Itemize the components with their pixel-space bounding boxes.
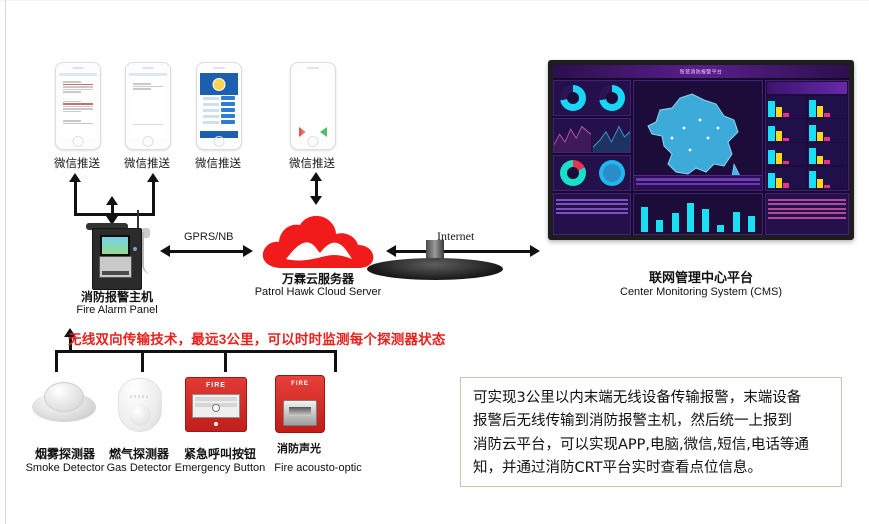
description-line-1: 可实现3公里以内末端无线设备传输报警，末端设备 bbox=[473, 387, 829, 410]
alert-ticker bbox=[634, 175, 762, 190]
emergency-button-face-text: FIRE bbox=[186, 382, 246, 389]
bar-5月 bbox=[702, 209, 709, 232]
kpi-gauges bbox=[553, 155, 631, 191]
line-drop-gas bbox=[141, 350, 144, 372]
fire-alarm-panel[interactable] bbox=[92, 228, 142, 290]
description-line-3: 消防云平台，可以实现APP,电脑,微信,短信,电话等通 bbox=[473, 434, 829, 457]
phone-4-screen: 09:24 bbox=[294, 73, 332, 138]
description-box: 可实现3公里以内末端无线设备传输报警，末端设备 报警后无线传输到消防报警主机，然… bbox=[460, 377, 842, 487]
monthly-bar-chart bbox=[633, 193, 763, 235]
emergency-button-label-en: Emergency Button bbox=[166, 462, 274, 476]
dashboard-left-column bbox=[553, 80, 631, 191]
mini-bar-group bbox=[808, 119, 847, 141]
right-panel-header bbox=[767, 82, 847, 94]
description-line-2: 报警后无线传输到消防报警主机，然后统一上报到 bbox=[473, 410, 829, 433]
china-map-panel bbox=[633, 80, 763, 191]
kpi-donuts bbox=[553, 80, 631, 116]
phone-home-button[interactable] bbox=[308, 136, 319, 147]
line-drop-smoke bbox=[55, 350, 58, 372]
bar-8月 bbox=[748, 216, 755, 232]
panel-keypad-door bbox=[99, 256, 132, 278]
arrow-internet-right bbox=[530, 245, 540, 257]
cloud-server-icon bbox=[258, 214, 378, 270]
arrow-phone2-up bbox=[147, 173, 159, 182]
mini-bar-group bbox=[808, 167, 847, 189]
sparkline-1 bbox=[554, 119, 591, 153]
bar-7月 bbox=[733, 212, 740, 232]
phone-2-screen bbox=[129, 73, 167, 138]
line-phone2-stem bbox=[152, 182, 155, 215]
mini-bar-group bbox=[808, 96, 847, 118]
emergency-button-icon[interactable]: FIRE bbox=[185, 377, 247, 432]
cloud-label-en: Patrol Hawk Cloud Server bbox=[248, 286, 388, 300]
event-list-right bbox=[765, 193, 849, 235]
gas-detector-icon[interactable] bbox=[118, 378, 162, 432]
arrow-gprs-right bbox=[243, 245, 253, 257]
line-gprs bbox=[169, 250, 245, 253]
panel-label-en: Fire Alarm Panel bbox=[62, 304, 172, 318]
smoke-detector-icon[interactable] bbox=[32, 382, 96, 426]
phone-home-button[interactable] bbox=[143, 136, 154, 147]
phone-speaker-icon bbox=[307, 67, 319, 69]
monitor-base bbox=[367, 258, 503, 280]
line-detector-bus bbox=[55, 350, 337, 353]
phone-speaker-icon bbox=[142, 67, 154, 69]
fire-acousto-optic-icon[interactable]: FIRE bbox=[275, 375, 325, 433]
page-bottom-rule bbox=[0, 0, 869, 1]
line-drop-button bbox=[224, 350, 227, 372]
app-logo-icon bbox=[213, 78, 226, 91]
phone-1[interactable] bbox=[55, 62, 101, 150]
mini-bar-group bbox=[808, 143, 847, 165]
cms-label-en: Center Monitoring System (CMS) bbox=[601, 286, 801, 300]
siren-label-cn: 消防声光 bbox=[267, 443, 331, 457]
phone-2[interactable] bbox=[125, 62, 171, 150]
line-internet bbox=[395, 250, 532, 253]
phone-4[interactable]: 09:24 bbox=[290, 62, 336, 150]
phone-speaker-icon bbox=[72, 67, 84, 69]
line-phone1-stem bbox=[74, 182, 77, 215]
panel-status-led bbox=[133, 247, 137, 251]
mini-bar-group bbox=[767, 96, 806, 118]
siren-face-text: FIRE bbox=[276, 381, 324, 387]
event-list-left bbox=[553, 193, 631, 235]
dashboard-title: 智慧消防报警平台 bbox=[680, 68, 722, 75]
description-line-4: 知，并通过消防CRT平台实时查看点位信息。 bbox=[473, 457, 829, 480]
cms-label-cn: 联网管理中心平台 bbox=[621, 270, 781, 286]
bar-6月 bbox=[717, 225, 724, 232]
donut-chart-3 bbox=[560, 160, 586, 186]
phone-home-button[interactable] bbox=[73, 136, 84, 147]
kpi-sparklines bbox=[553, 118, 631, 154]
page-margin-guide bbox=[5, 0, 6, 524]
diagram-canvas: 微信推送 微信推送 微信推送 09:24 bbox=[0, 0, 869, 524]
line-drop-siren bbox=[334, 350, 337, 372]
bar-3月 bbox=[672, 213, 679, 232]
dashboard-right-column bbox=[765, 80, 849, 191]
arrow-phone1-up bbox=[69, 173, 81, 182]
wireless-note: 无线双向传输技术，最远3公里，可以时时监测每个探测器状态 bbox=[68, 328, 446, 348]
cms-dashboard: 智慧消防报警平台 bbox=[553, 65, 849, 235]
link-label-gprs: GPRS/NB bbox=[184, 231, 234, 243]
phone-1-screen bbox=[59, 73, 97, 138]
mini-bar-group bbox=[767, 167, 806, 189]
panel-display bbox=[100, 235, 130, 256]
donut-chart-2 bbox=[599, 85, 625, 111]
cloud-label-cn: 万霖云服务器 bbox=[258, 272, 378, 287]
emergency-button-label-cn: 紧急呼叫按钮 bbox=[170, 447, 270, 462]
mini-bar-group bbox=[767, 143, 806, 165]
gauge-chart bbox=[599, 160, 625, 186]
panel-cord bbox=[142, 232, 156, 274]
dashboard-title-bar: 智慧消防报警平台 bbox=[553, 65, 849, 78]
mini-bar-group bbox=[767, 119, 806, 141]
phone-home-button[interactable] bbox=[214, 136, 225, 147]
sparkline-2 bbox=[593, 119, 630, 153]
phone-3-screen bbox=[200, 73, 238, 138]
panel-label-cn: 消防报警主机 bbox=[62, 290, 172, 305]
phone-speaker-icon bbox=[213, 67, 225, 69]
phone-4-caption: 微信推送 bbox=[268, 155, 356, 171]
accept-call-icon bbox=[320, 127, 327, 137]
donut-chart-1 bbox=[560, 85, 586, 111]
arrow-phone4-down bbox=[310, 196, 322, 205]
bar-4月 bbox=[687, 203, 694, 232]
bar-1月 bbox=[641, 207, 648, 232]
siren-label-en: Fire acousto-optic bbox=[262, 462, 374, 476]
cms-monitor[interactable]: 智慧消防报警平台 bbox=[548, 60, 854, 240]
phone-3-caption: 微信推送 bbox=[174, 155, 262, 171]
phone-3[interactable] bbox=[196, 62, 242, 150]
bar-2月 bbox=[656, 220, 663, 232]
